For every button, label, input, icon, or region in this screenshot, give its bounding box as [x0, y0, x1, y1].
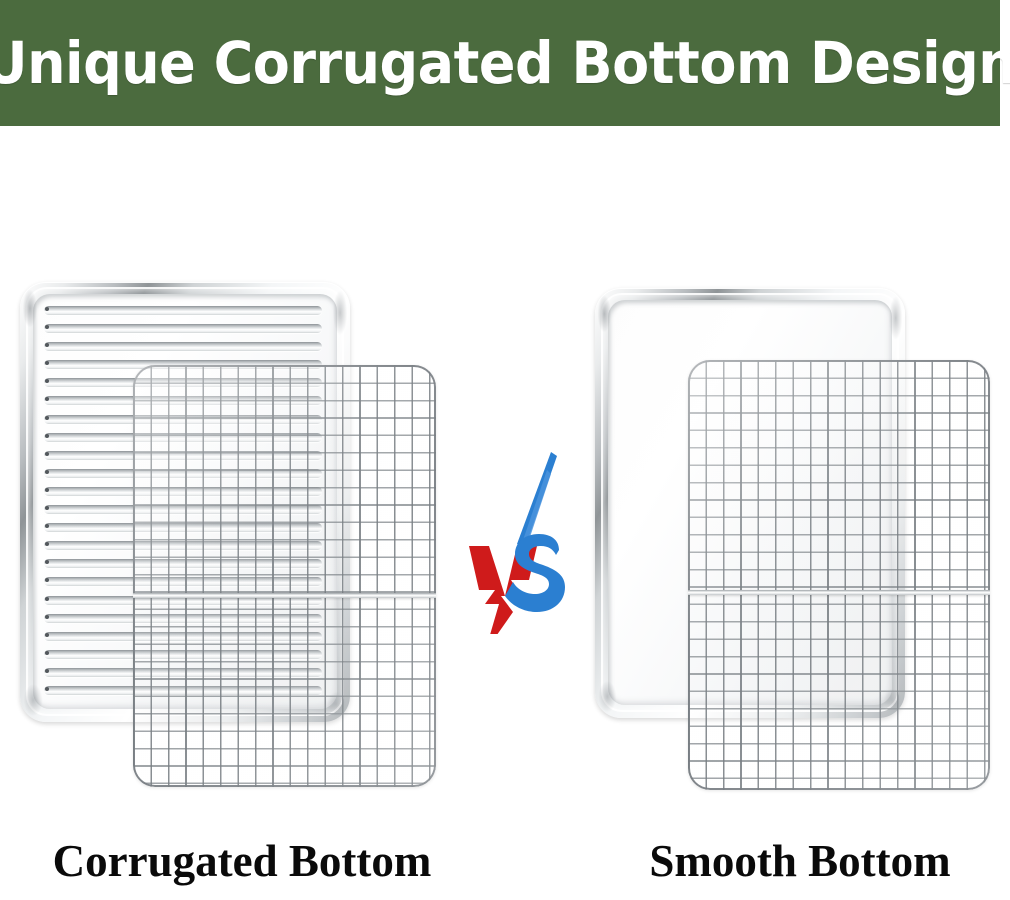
corrugated-ridge [44, 342, 322, 351]
corrugated-ridge [44, 306, 322, 315]
caption-corrugated-bottom: Corrugated Bottom [22, 834, 462, 888]
page-title: Unique Corrugated Bottom Design [35, 0, 965, 126]
cooling-rack-right [688, 360, 990, 790]
comparison-stage [0, 126, 1010, 900]
rack-support-bar [133, 593, 436, 598]
vs-lightning-icon [455, 444, 575, 634]
cooling-rack-left [133, 365, 436, 787]
rack-highlight [688, 360, 990, 790]
rack-support-bar [688, 590, 990, 595]
caption-smooth-bottom: Smooth Bottom [600, 834, 1000, 888]
corrugated-ridge [44, 324, 322, 333]
header-banner: Unique Corrugated Bottom Design [0, 0, 1000, 126]
rack-highlight [133, 365, 436, 787]
